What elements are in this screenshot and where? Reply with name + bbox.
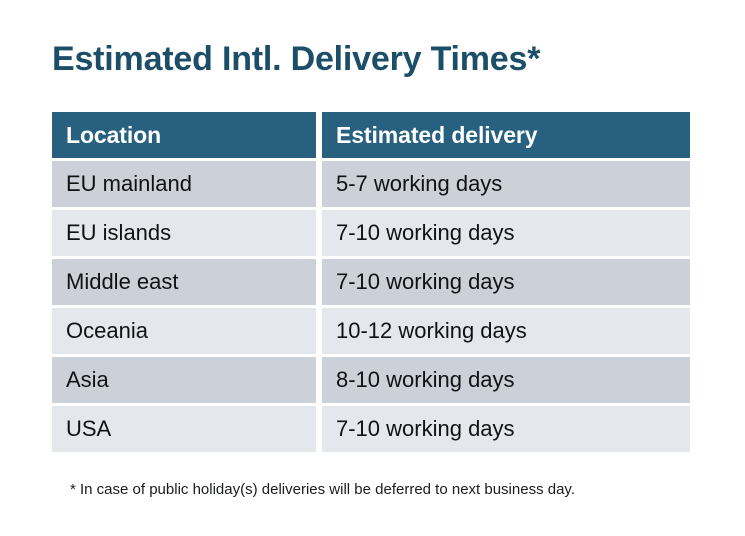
cell-estimated-delivery: 5-7 working days	[322, 161, 690, 207]
footnote-text: * In case of public holiday(s) deliverie…	[70, 480, 575, 500]
table-row: EU islands 7-10 working days	[52, 210, 690, 256]
table-row: USA 7-10 working days	[52, 406, 690, 452]
table-row: Oceania 10-12 working days	[52, 308, 690, 354]
cell-location: EU islands	[52, 210, 316, 256]
cell-estimated-delivery: 7-10 working days	[322, 259, 690, 305]
cell-location: Asia	[52, 357, 316, 403]
cell-estimated-delivery: 8-10 working days	[322, 357, 690, 403]
table-row: Middle east 7-10 working days	[52, 259, 690, 305]
table-row: Asia 8-10 working days	[52, 357, 690, 403]
delivery-times-card: Estimated Intl. Delivery Times* Location…	[0, 0, 745, 536]
cell-location: USA	[52, 406, 316, 452]
table-header-row: Location Estimated delivery	[52, 112, 690, 158]
cell-location: Oceania	[52, 308, 316, 354]
cell-estimated-delivery: 7-10 working days	[322, 406, 690, 452]
table-row: EU mainland 5-7 working days	[52, 161, 690, 207]
page-title: Estimated Intl. Delivery Times*	[52, 38, 540, 80]
cell-location: Middle east	[52, 259, 316, 305]
delivery-times-table: Location Estimated delivery EU mainland …	[52, 112, 690, 452]
column-header-estimated-delivery: Estimated delivery	[322, 112, 690, 158]
cell-estimated-delivery: 10-12 working days	[322, 308, 690, 354]
cell-estimated-delivery: 7-10 working days	[322, 210, 690, 256]
column-header-location: Location	[52, 112, 316, 158]
cell-location: EU mainland	[52, 161, 316, 207]
